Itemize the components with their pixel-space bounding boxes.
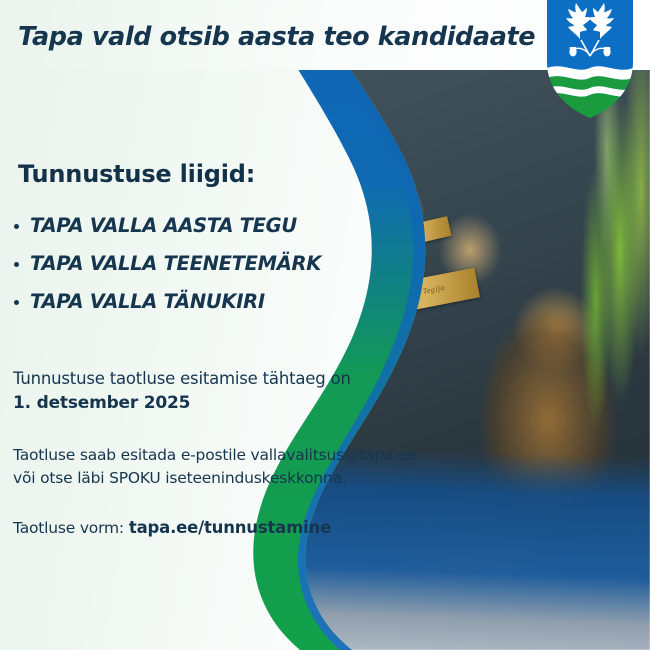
page-title: Tapa vald otsib aasta teo kandidaate [18, 22, 535, 52]
form-label: Taotluse vorm: [13, 519, 124, 537]
contact-email-line: Taotluse saab esitada e-postile vallaval… [13, 444, 417, 467]
deadline-date: 1. detsember 2025 [13, 391, 351, 416]
list-item: TAPA VALLA TEENETEMÄRK [8, 252, 338, 275]
contact-block: Taotluse saab esitada e-postile vallaval… [13, 444, 417, 491]
form-url-link[interactable]: tapa.ee/tunnustamine [129, 518, 331, 537]
deadline-label: Tunnustuse taotluse esitamise tähtaeg on [13, 369, 351, 388]
list-item: TAPA VALLA AASTA TEGU [8, 214, 338, 237]
application-form-block: Taotluse vorm:tapa.ee/tunnustamine [13, 518, 331, 537]
deadline-block: Tunnustuse taotluse esitamise tähtaeg on… [13, 367, 351, 416]
award-types-list: TAPA VALLA AASTA TEGU TAPA VALLA TEENETE… [8, 214, 338, 328]
award-types-heading: Tunnustuse liigid: [18, 160, 255, 188]
contact-spoku-line: või otse läbi SPOKU iseteeninduskeskkonn… [13, 467, 417, 490]
list-item: TAPA VALLA TÄNUKIRI [8, 290, 338, 313]
poster-canvas: Aasta Tegija Tapa vald otsib aasta teo [0, 0, 650, 650]
coat-of-arms-emblem [547, 0, 633, 118]
